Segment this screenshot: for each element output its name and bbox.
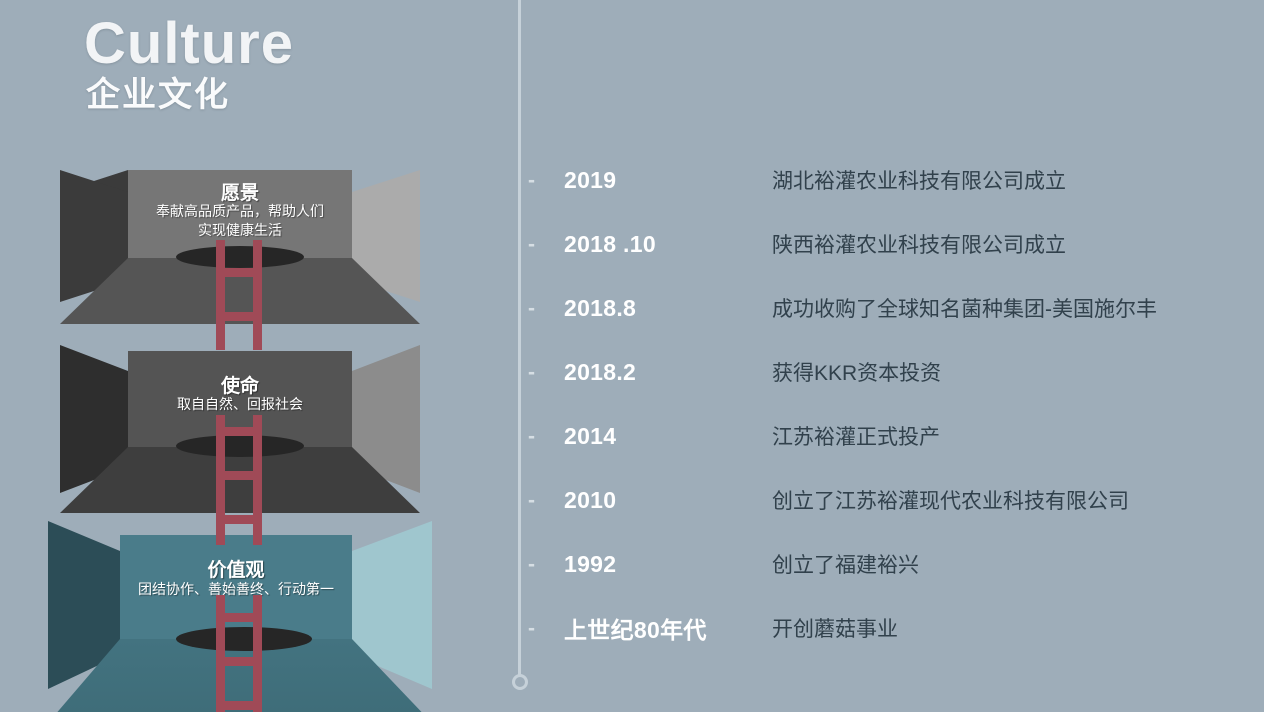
- timeline-row[interactable]: - 2018.8 成功收购了全球知名菌种集团-美国施尔丰: [518, 276, 1264, 340]
- timeline-description: 陕西裕灌农业科技有限公司成立: [772, 229, 1066, 259]
- ladder-icon: [216, 240, 262, 350]
- bullet-dash-icon: -: [528, 554, 542, 575]
- ladder-rung: [216, 471, 262, 480]
- timeline-year: 1992: [564, 551, 764, 578]
- timeline-description: 获得KKR资本投资: [772, 357, 941, 387]
- bullet-dash-icon: -: [528, 234, 542, 255]
- timeline-row[interactable]: - 2018.2 获得KKR资本投资: [518, 340, 1264, 404]
- timeline-year: 2018.2: [564, 359, 764, 386]
- ladder-rung: [216, 613, 262, 622]
- timeline-row[interactable]: - 1992 创立了福建裕兴: [518, 532, 1264, 596]
- ladder-rung: [216, 515, 262, 524]
- timeline-year: 2018.8: [564, 295, 764, 322]
- timeline-description: 开创蘑菇事业: [772, 613, 898, 643]
- timeline-row[interactable]: - 2014 江苏裕灌正式投产: [518, 404, 1264, 468]
- bullet-dash-icon: -: [528, 618, 542, 639]
- ladder-rung: [216, 427, 262, 436]
- timeline-description: 湖北裕灌农业科技有限公司成立: [772, 165, 1066, 195]
- culture-pyramid-diagram: 愿景 奉献高品质产品，帮助人们 实现健康生活 使命 取自自然、回报社会 价值观 …: [0, 130, 500, 712]
- timeline-list: - 2019 湖北裕灌农业科技有限公司成立 - 2018 .10 陕西裕灌农业科…: [518, 148, 1264, 660]
- timeline-description: 创立了福建裕兴: [772, 549, 919, 579]
- bullet-dash-icon: -: [528, 490, 542, 511]
- box-subtitle-vision-line1: 奉献高品质产品，帮助人们: [118, 203, 362, 221]
- timeline-row[interactable]: - 2010 创立了江苏裕灌现代农业科技有限公司: [518, 468, 1264, 532]
- ladder-icon: [216, 415, 262, 545]
- title-chinese: 企业文化: [86, 77, 504, 114]
- page-title: Culture 企业文化: [84, 14, 504, 114]
- ladder-rung: [216, 701, 262, 710]
- title-english: Culture: [84, 14, 504, 75]
- box-title-values: 价值观: [120, 555, 352, 582]
- ladder-rung: [216, 312, 262, 321]
- ladder-rail-right: [253, 240, 262, 350]
- box-subtitle-mission: 取自自然、回报社会: [118, 396, 362, 414]
- timeline-description: 创立了江苏裕灌现代农业科技有限公司: [772, 485, 1129, 515]
- timeline-year: 上世纪80年代: [564, 611, 764, 645]
- box-title-vision: 愿景: [128, 178, 352, 205]
- timeline-year: 2019: [564, 167, 764, 194]
- timeline-year: 2010: [564, 487, 764, 514]
- bullet-dash-icon: -: [528, 170, 542, 191]
- ladder-icon: [216, 595, 262, 712]
- timeline-year: 2014: [564, 423, 764, 450]
- timeline-endcap-circle-icon: [512, 674, 528, 690]
- timeline-year: 2018 .10: [564, 231, 764, 258]
- bullet-dash-icon: -: [528, 298, 542, 319]
- box-subtitle-vision-line2: 实现健康生活: [118, 222, 362, 240]
- timeline-row[interactable]: - 上世纪80年代 开创蘑菇事业: [518, 596, 1264, 660]
- bullet-dash-icon: -: [528, 426, 542, 447]
- ladder-rail-left: [216, 240, 225, 350]
- timeline-description: 江苏裕灌正式投产: [772, 421, 940, 451]
- slide-root: Culture 企业文化: [0, 0, 1264, 712]
- timeline-description: 成功收购了全球知名菌种集团-美国施尔丰: [772, 293, 1157, 323]
- ladder-rung: [216, 268, 262, 277]
- box-title-mission: 使命: [128, 371, 352, 398]
- timeline-row[interactable]: - 2019 湖北裕灌农业科技有限公司成立: [518, 148, 1264, 212]
- ladder-rung: [216, 657, 262, 666]
- bullet-dash-icon: -: [528, 362, 542, 383]
- timeline-row[interactable]: - 2018 .10 陕西裕灌农业科技有限公司成立: [518, 212, 1264, 276]
